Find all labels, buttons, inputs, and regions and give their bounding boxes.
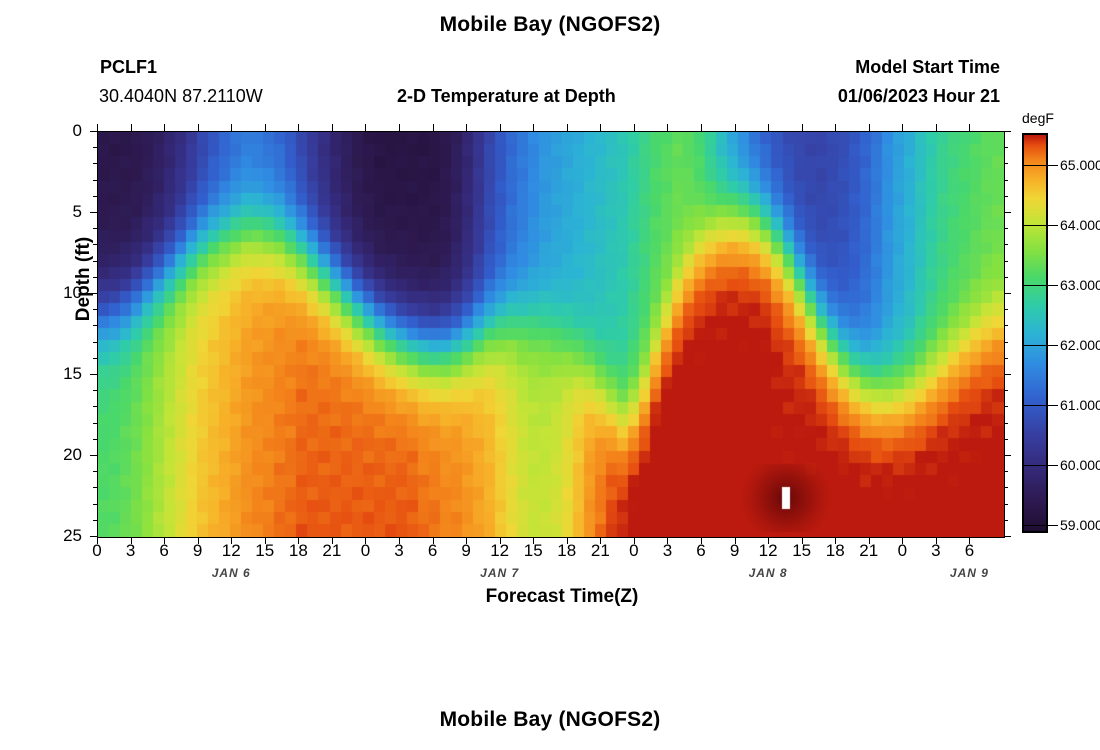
x-axis-tick-mark — [667, 537, 668, 544]
x-axis-tick-mark-top — [298, 124, 299, 131]
x-axis-tick-mark-top — [500, 124, 501, 131]
colorbar-tick-label: 59.000 — [1060, 517, 1100, 533]
colorbar-tick-mark — [1048, 405, 1058, 406]
y-axis-tick-mark-right — [1004, 374, 1011, 375]
x-axis-tick-mark-top — [835, 124, 836, 131]
y-axis-minor-tick — [93, 180, 97, 181]
y-axis-minor-tick — [93, 342, 97, 343]
y-axis-minor-tick-right — [1004, 147, 1008, 148]
x-axis-day-label: JAN 7 — [455, 566, 545, 580]
y-axis-tick-label: 10 — [42, 283, 82, 303]
y-axis-tick-mark — [90, 131, 97, 132]
y-axis-minor-tick-right — [1004, 487, 1008, 488]
x-axis-tick-mark-top — [936, 124, 937, 131]
x-axis-tick-mark — [701, 537, 702, 544]
y-axis-minor-tick-right — [1004, 180, 1008, 181]
y-axis-minor-tick-right — [1004, 406, 1008, 407]
x-axis-day-label: JAN 8 — [723, 566, 813, 580]
colorbar — [1022, 133, 1048, 533]
x-axis-tick-label: 6 — [949, 541, 989, 561]
x-axis-tick-mark — [365, 537, 366, 544]
y-axis-minor-tick — [93, 196, 97, 197]
x-axis-tick-mark — [231, 537, 232, 544]
colorbar-tick-label: 60.000 — [1060, 457, 1100, 473]
station-id: PCLF1 — [100, 57, 157, 78]
colorbar-tick-label: 64.000 — [1060, 217, 1100, 233]
model-start-time-value: 01/06/2023 Hour 21 — [838, 86, 1000, 107]
station-coordinates: 30.4040N 87.2110W — [99, 86, 263, 107]
x-axis-tick-mark-top — [231, 124, 232, 131]
x-axis-tick-mark — [131, 537, 132, 544]
x-axis-tick-mark-top — [399, 124, 400, 131]
chart-subtitle: 2-D Temperature at Depth — [397, 86, 616, 107]
y-axis-minor-tick — [93, 504, 97, 505]
x-axis-title: Forecast Time(Z) — [0, 586, 1100, 608]
colorbar-tick-mark — [1048, 345, 1058, 346]
y-axis-minor-tick — [93, 228, 97, 229]
colorbar-tick-mark — [1048, 285, 1058, 286]
x-axis-tick-mark — [802, 537, 803, 544]
page-title-bottom: Mobile Bay (NGOFS2) — [0, 708, 1100, 732]
heatmap-plot-area — [97, 131, 1005, 538]
colorbar-tick-mark — [1048, 465, 1058, 466]
x-axis-tick-mark — [735, 537, 736, 544]
y-axis-tick-mark — [90, 212, 97, 213]
x-axis-tick-mark — [902, 537, 903, 544]
y-axis-minor-tick — [93, 163, 97, 164]
x-axis-tick-mark — [466, 537, 467, 544]
x-axis-tick-mark — [97, 537, 98, 544]
x-axis-tick-mark — [567, 537, 568, 544]
x-axis-tick-mark — [634, 537, 635, 544]
y-axis-tick-mark-right — [1004, 455, 1011, 456]
y-axis-tick-mark — [90, 293, 97, 294]
y-axis-minor-tick — [93, 390, 97, 391]
y-axis-minor-tick-right — [1004, 390, 1008, 391]
y-axis-minor-tick — [93, 439, 97, 440]
y-axis-tick-mark — [90, 455, 97, 456]
x-axis-tick-mark — [600, 537, 601, 544]
x-axis-day-label: JAN 6 — [186, 566, 276, 580]
y-axis-minor-tick-right — [1004, 471, 1008, 472]
colorbar-tick-line — [1024, 405, 1046, 406]
y-axis-minor-tick-right — [1004, 325, 1008, 326]
x-axis-tick-mark — [936, 537, 937, 544]
y-axis-tick-mark-right — [1004, 131, 1011, 132]
x-axis-tick-mark-top — [869, 124, 870, 131]
x-axis-tick-mark — [298, 537, 299, 544]
colorbar-tick-label: 62.000 — [1060, 337, 1100, 353]
x-axis-tick-mark-top — [567, 124, 568, 131]
colorbar-tick-line — [1024, 465, 1046, 466]
y-axis-tick-mark-right — [1004, 293, 1011, 294]
page-title-top: Mobile Bay (NGOFS2) — [0, 13, 1100, 37]
colorbar-unit-label: degF — [1022, 110, 1054, 126]
x-axis-tick-mark — [265, 537, 266, 544]
y-axis-minor-tick — [93, 261, 97, 262]
colorbar-tick-label: 63.000 — [1060, 277, 1100, 293]
colorbar-tick-line — [1024, 345, 1046, 346]
y-axis-minor-tick-right — [1004, 309, 1008, 310]
model-start-time-label: Model Start Time — [855, 57, 1000, 78]
x-axis-tick-mark-top — [802, 124, 803, 131]
y-axis-tick-label: 20 — [42, 445, 82, 465]
colorbar-tick-label: 65.000 — [1060, 157, 1100, 173]
x-axis-tick-mark-top — [97, 124, 98, 131]
y-axis-minor-tick — [93, 147, 97, 148]
x-axis-tick-mark — [164, 537, 165, 544]
x-axis-tick-mark-top — [600, 124, 601, 131]
y-axis-minor-tick-right — [1004, 244, 1008, 245]
y-axis-minor-tick — [93, 358, 97, 359]
y-axis-minor-tick-right — [1004, 261, 1008, 262]
x-axis-tick-mark-top — [735, 124, 736, 131]
y-axis-tick-mark-right — [1004, 536, 1011, 537]
y-axis-minor-tick — [93, 520, 97, 521]
temperature-heatmap — [98, 132, 1004, 537]
y-axis-tick-label: 5 — [42, 202, 82, 222]
x-axis-tick-mark-top — [164, 124, 165, 131]
x-axis-tick-mark-top — [701, 124, 702, 131]
x-axis-tick-mark-top — [969, 124, 970, 131]
colorbar-tick-label: 61.000 — [1060, 397, 1100, 413]
y-axis-minor-tick-right — [1004, 163, 1008, 164]
y-axis-tick-label: 15 — [42, 364, 82, 384]
x-axis-tick-mark — [768, 537, 769, 544]
y-axis-tick-mark — [90, 536, 97, 537]
y-axis-minor-tick-right — [1004, 277, 1008, 278]
colorbar-tick-mark — [1048, 225, 1058, 226]
x-axis-tick-mark-top — [667, 124, 668, 131]
colorbar-tick-line — [1024, 285, 1046, 286]
x-axis-tick-mark — [869, 537, 870, 544]
y-axis-tick-mark — [90, 374, 97, 375]
x-axis-tick-mark-top — [332, 124, 333, 131]
x-axis-day-label: JAN 9 — [924, 566, 1014, 580]
y-axis-tick-label: 25 — [42, 526, 82, 546]
x-axis-tick-mark-top — [365, 124, 366, 131]
y-axis-minor-tick — [93, 277, 97, 278]
y-axis-minor-tick-right — [1004, 342, 1008, 343]
x-axis-tick-mark-top — [902, 124, 903, 131]
colorbar-tick-line — [1024, 225, 1046, 226]
y-axis-minor-tick-right — [1004, 439, 1008, 440]
y-axis-minor-tick-right — [1004, 196, 1008, 197]
y-axis-minor-tick — [93, 309, 97, 310]
y-axis-tick-label: 0 — [42, 121, 82, 141]
x-axis-tick-mark — [332, 537, 333, 544]
colorbar-tick-line — [1024, 525, 1046, 526]
y-axis-minor-tick-right — [1004, 520, 1008, 521]
y-axis-minor-tick-right — [1004, 228, 1008, 229]
x-axis-tick-mark-top — [466, 124, 467, 131]
y-axis-minor-tick — [93, 471, 97, 472]
y-axis-minor-tick — [93, 487, 97, 488]
y-axis-minor-tick — [93, 423, 97, 424]
colorbar-gradient — [1024, 135, 1046, 531]
x-axis-tick-mark-top — [634, 124, 635, 131]
x-axis-tick-mark — [433, 537, 434, 544]
x-axis-tick-mark — [198, 537, 199, 544]
x-axis-tick-mark — [399, 537, 400, 544]
x-axis-tick-mark-top — [433, 124, 434, 131]
colorbar-tick-mark — [1048, 525, 1058, 526]
y-axis-tick-mark-right — [1004, 212, 1011, 213]
x-axis-tick-mark-top — [533, 124, 534, 131]
x-axis-tick-mark-top — [131, 124, 132, 131]
y-axis-minor-tick-right — [1004, 504, 1008, 505]
y-axis-minor-tick — [93, 325, 97, 326]
x-axis-tick-mark — [533, 537, 534, 544]
x-axis-tick-mark-top — [198, 124, 199, 131]
x-axis-tick-mark — [835, 537, 836, 544]
y-axis-minor-tick-right — [1004, 423, 1008, 424]
x-axis-tick-mark — [500, 537, 501, 544]
colorbar-tick-mark — [1048, 165, 1058, 166]
y-axis-minor-tick — [93, 406, 97, 407]
y-axis-minor-tick-right — [1004, 358, 1008, 359]
x-axis-tick-mark-top — [768, 124, 769, 131]
y-axis-minor-tick — [93, 244, 97, 245]
x-axis-tick-mark — [969, 537, 970, 544]
x-axis-tick-mark-top — [265, 124, 266, 131]
colorbar-tick-line — [1024, 165, 1046, 166]
